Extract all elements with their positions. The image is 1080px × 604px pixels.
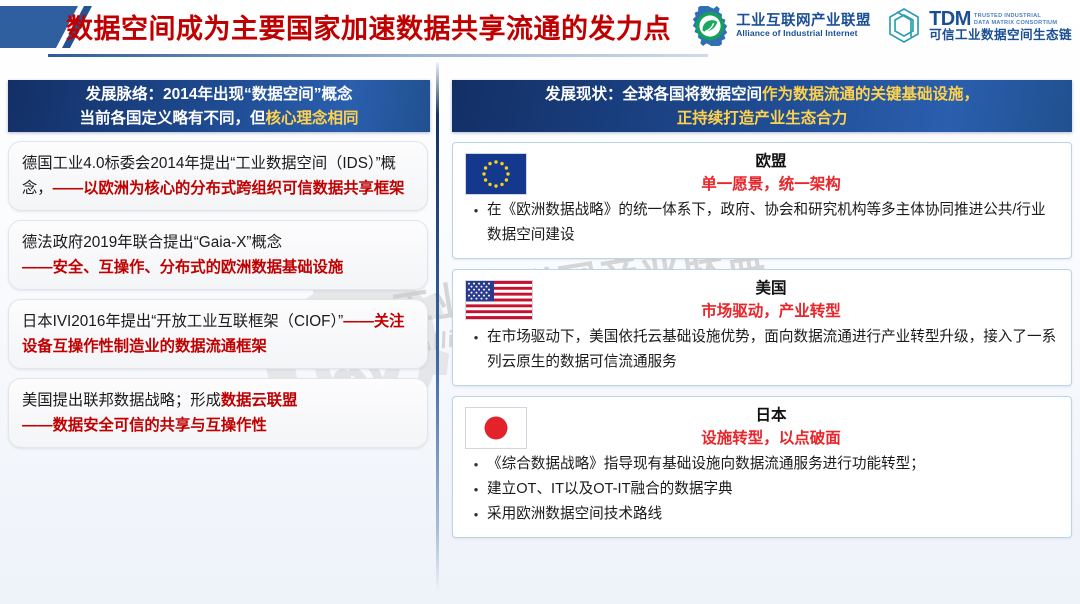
slide-canvas: 工业互联网产业联盟 Alliance of Industrial Interne… bbox=[0, 0, 1080, 604]
country-card-us-titles: 美国 市场驱动，产业转型 bbox=[543, 278, 1059, 324]
bullet-dot-icon: • bbox=[465, 477, 487, 502]
bullet-text: 在《欧洲数据战略》的统一体系下，政府、协会和研究机构等多主体协同推进公共/行业数… bbox=[487, 198, 1059, 248]
flag-container bbox=[465, 151, 543, 195]
country-card-jp-titles: 日本 设施转型，以点破面 bbox=[543, 405, 1059, 451]
right-column: 发展现状：全球各国将数据空间作为数据流通的关键基础设施， 正持续打造产业生态合力 bbox=[452, 80, 1072, 538]
country-slogan: 市场驱动，产业转型 bbox=[543, 300, 999, 324]
bullet-item: • 在《欧洲数据战略》的统一体系下，政府、协会和研究机构等多主体协同推进公共/行… bbox=[465, 198, 1059, 248]
right-banner-highlight-1: 作为数据流通的关键基础设施， bbox=[762, 86, 979, 103]
country-name: 日本 bbox=[543, 405, 999, 427]
country-slogan: 设施转型，以点破面 bbox=[543, 427, 999, 451]
country-card-eu-titles: 欧盟 单一愿景，统一架构 bbox=[543, 151, 1059, 197]
list-item[interactable]: 德法政府2019年联合提出“Gaia-X”概念——安全、互操作、分布式的欧洲数据… bbox=[8, 220, 428, 290]
left-banner-line1: 发展脉络：2014年出现“数据空间”概念 bbox=[86, 86, 353, 103]
left-card-2-text: 德法政府2019年联合提出“Gaia-X”概念 bbox=[22, 234, 282, 251]
country-card-jp[interactable]: 日本 设施转型，以点破面 • 《综合数据战略》指导现有基础设施向数据流通服务进行… bbox=[452, 396, 1072, 538]
logo-tdm-cn: 可信工业数据空间生态链 bbox=[929, 29, 1072, 42]
flag-container bbox=[465, 278, 543, 320]
list-item[interactable]: 美国提出联邦数据战略；形成数据云联盟——数据安全可信的共享与互操作性 bbox=[8, 378, 428, 448]
page-title: 数据空间成为主要国家加速数据共享流通的发力点 bbox=[66, 7, 671, 46]
country-card-eu[interactable]: 欧盟 单一愿景，统一架构 • 在《欧洲数据战略》的统一体系下，政府、协会和研究机… bbox=[452, 142, 1072, 259]
left-column: 发展脉络：2014年出现“数据空间”概念 当前各国定义略有不同，但核心理念相同 … bbox=[8, 80, 430, 448]
logo-group: 工业互联网产业联盟 Alliance of Industrial Interne… bbox=[690, 6, 1072, 46]
bullet-dot-icon: • bbox=[465, 502, 487, 527]
left-card-4-highlight-a: 数据云联盟 bbox=[221, 392, 298, 409]
us-flag-icon bbox=[465, 280, 533, 320]
country-slogan: 单一愿景，统一架构 bbox=[543, 173, 999, 197]
jp-flag-icon bbox=[465, 407, 527, 449]
logo-aii-en: Alliance of Industrial Internet bbox=[736, 29, 871, 38]
left-banner-line2: 当前各国定义略有不同，但 bbox=[79, 110, 265, 127]
logo-tdm-row: TDM TRUSTED INDUSTRIAL DATA MATRIX CONSO… bbox=[929, 10, 1072, 29]
left-card-4-highlight-b: ——数据安全可信的共享与互操作性 bbox=[22, 417, 267, 434]
left-section-banner: 发展脉络：2014年出现“数据空间”概念 当前各国定义略有不同，但核心理念相同 bbox=[8, 80, 430, 132]
list-item[interactable]: 德国工业4.0标委会2014年提出“工业数据空间（IDS）”概念，——以欧洲为核… bbox=[8, 141, 428, 211]
list-item[interactable]: 日本IVI2016年提出“开放工业互联框架（CIOF）”——关注设备互操作性制造… bbox=[8, 299, 428, 369]
country-card-us[interactable]: 美国 市场驱动，产业转型 • 在市场驱动下，美国依托云基础设施优势，面向数据流通… bbox=[452, 269, 1072, 386]
bullet-dot-icon: • bbox=[465, 452, 487, 477]
country-card-jp-bullets: • 《综合数据战略》指导现有基础设施向数据流通服务进行功能转型； • 建立OT、… bbox=[465, 452, 1059, 527]
bullet-item: • 建立OT、IT以及OT-IT融合的数据字典 bbox=[465, 477, 1059, 502]
bullet-text: 《综合数据战略》指导现有基础设施向数据流通服务进行功能转型； bbox=[487, 452, 1059, 477]
flag-container bbox=[465, 405, 543, 449]
country-card-us-head: 美国 市场驱动，产业转型 bbox=[465, 278, 1059, 324]
column-divider bbox=[436, 62, 439, 592]
logo-aii: 工业互联网产业联盟 Alliance of Industrial Interne… bbox=[690, 6, 871, 46]
logo-tdm: TDM TRUSTED INDUSTRIAL DATA MATRIX CONSO… bbox=[885, 6, 1072, 46]
right-section-banner: 发展现状：全球各国将数据空间作为数据流通的关键基础设施， 正持续打造产业生态合力 bbox=[452, 80, 1072, 132]
bullet-text: 在市场驱动下，美国依托云基础设施优势，面向数据流通进行产业转型升级，接入了一系列… bbox=[487, 325, 1059, 375]
bullet-dot-icon: • bbox=[465, 325, 487, 375]
left-card-4-text: 美国提出联邦数据战略；形成 bbox=[22, 392, 221, 409]
left-card-1-highlight: ——以欧洲为核心的分布式跨组织可信数据共享框架 bbox=[53, 180, 405, 197]
bullet-item: • 在市场驱动下，美国依托云基础设施优势，面向数据流通进行产业转型升级，接入了一… bbox=[465, 325, 1059, 375]
logo-tdm-sub1: TRUSTED INDUSTRIAL bbox=[974, 13, 1057, 20]
logo-aii-text: 工业互联网产业联盟 Alliance of Industrial Interne… bbox=[736, 14, 871, 38]
logo-tdm-text: TDM TRUSTED INDUSTRIAL DATA MATRIX CONSO… bbox=[929, 10, 1072, 42]
right-banner-line1: 发展现状：全球各国将数据空间 bbox=[545, 86, 762, 103]
left-card-2-highlight: ——安全、互操作、分布式的欧洲数据基础设施 bbox=[22, 259, 343, 276]
title-underline bbox=[48, 54, 708, 57]
bullet-item: • 采用欧洲数据空间技术路线 bbox=[465, 502, 1059, 527]
cube-outline-logo-icon bbox=[885, 6, 923, 46]
gear-leaf-logo-icon bbox=[690, 6, 730, 46]
left-banner-highlight: 核心理念相同 bbox=[266, 110, 359, 127]
bullet-item: • 《综合数据战略》指导现有基础设施向数据流通服务进行功能转型； bbox=[465, 452, 1059, 477]
bullet-text: 建立OT、IT以及OT-IT融合的数据字典 bbox=[487, 477, 1059, 502]
country-card-eu-bullets: • 在《欧洲数据战略》的统一体系下，政府、协会和研究机构等多主体协同推进公共/行… bbox=[465, 198, 1059, 248]
bullet-text: 采用欧洲数据空间技术路线 bbox=[487, 502, 1059, 527]
country-card-eu-head: 欧盟 单一愿景，统一架构 bbox=[465, 151, 1059, 197]
right-banner-highlight-2: 正持续打造产业生态合力 bbox=[677, 110, 848, 127]
country-name: 欧盟 bbox=[543, 151, 999, 173]
logo-tdm-mark: TDM bbox=[929, 10, 971, 29]
left-card-3-text: 日本IVI2016年提出“开放工业互联框架（CIOF）” bbox=[22, 313, 343, 330]
logo-tdm-sub2: DATA MATRIX CONSORTIUM bbox=[974, 20, 1057, 27]
logo-aii-cn: 工业互联网产业联盟 bbox=[736, 14, 871, 29]
country-card-us-bullets: • 在市场驱动下，美国依托云基础设施优势，面向数据流通进行产业转型升级，接入了一… bbox=[465, 325, 1059, 375]
country-name: 美国 bbox=[543, 278, 999, 300]
country-card-jp-head: 日本 设施转型，以点破面 bbox=[465, 405, 1059, 451]
bullet-dot-icon: • bbox=[465, 198, 487, 248]
eu-flag-icon bbox=[465, 153, 527, 195]
